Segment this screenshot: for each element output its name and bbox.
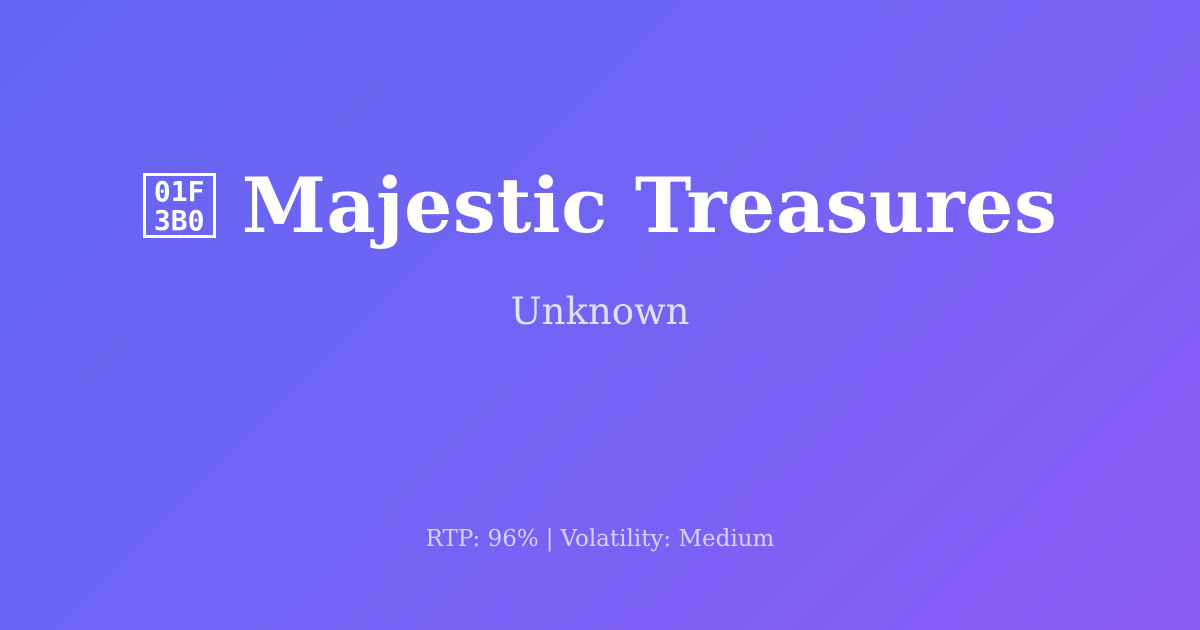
game-provider: Unknown — [510, 290, 689, 334]
hero-block: 01F 3B0 Majestic Treasures Unknown — [0, 0, 1200, 500]
meta-separator: | — [539, 526, 561, 552]
game-title: Majestic Treasures — [242, 166, 1058, 246]
game-og-card: 01F 3B0 Majestic Treasures Unknown RTP: … — [0, 0, 1200, 630]
slot-machine-icon-codepoint-bottom: 3B0 — [154, 206, 205, 235]
slot-machine-icon-codepoint-top: 01F — [154, 177, 205, 206]
volatility-value: Volatility: Medium — [560, 526, 774, 552]
rtp-value: RTP: 96% — [426, 526, 539, 552]
slot-machine-icon: 01F 3B0 — [143, 173, 216, 238]
title-row: 01F 3B0 Majestic Treasures — [143, 166, 1058, 246]
game-meta-line: RTP: 96%|Volatility: Medium — [0, 525, 1200, 555]
